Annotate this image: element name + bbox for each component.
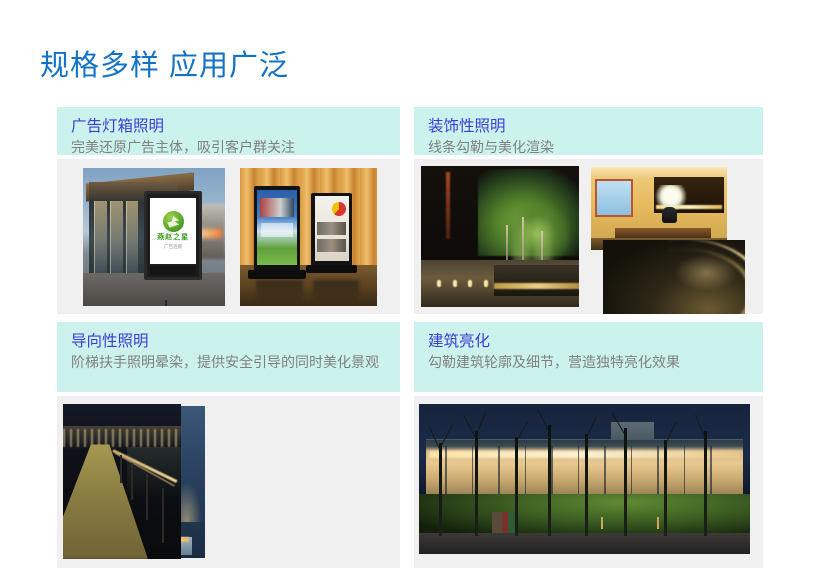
lobby-counter <box>615 228 710 238</box>
card-subtitle-architectural-lighting: 勾勒建筑轮廓及细节，营造独特亮化效果 <box>428 352 763 372</box>
shelter-glass-pane <box>110 201 123 273</box>
page-title: 规格多样 应用广泛 <box>40 42 289 84</box>
night-garden-uplighting-photo <box>421 166 579 307</box>
card-header-advertising-lightbox: 广告灯箱照明 完美还原广告主体，吸引客户群关注 <box>57 107 400 155</box>
trash-bin <box>492 512 515 533</box>
card-title-decorative-lighting: 装饰性照明 <box>428 116 763 137</box>
kiosk-screen-right <box>315 196 350 260</box>
card-title-architectural-lighting: 建筑亮化 <box>428 331 763 352</box>
silhouette-tree <box>475 431 478 536</box>
signage-kiosk-left <box>254 186 301 272</box>
bus-stop-lightbox-photo: 燕赵之星 广告连锁 <box>83 168 225 306</box>
silhouette-tree <box>515 437 518 536</box>
path-bollard-light <box>453 280 457 287</box>
lobby-window <box>595 179 633 217</box>
lightbox-unit: 燕赵之星 广告连锁 <box>144 191 202 279</box>
card-title-advertising-lightbox: 广告灯箱照明 <box>71 116 400 137</box>
kiosk-screen-left <box>257 190 296 265</box>
deck-edge-light <box>494 283 579 289</box>
card-images-decorative-lighting <box>414 159 763 314</box>
screen-photo-row <box>317 239 346 252</box>
card-title-guidance-lighting: 导向性照明 <box>71 331 400 352</box>
foreground-path <box>419 533 750 554</box>
shelter-pole <box>165 300 167 306</box>
railing-post <box>162 488 164 544</box>
garden-bollard-light <box>657 517 659 529</box>
card-images-advertising-lightbox: 燕赵之星 广告连锁 <box>57 159 400 314</box>
screen-pie-graphic <box>332 202 346 216</box>
railing-post <box>146 474 148 521</box>
card-images-guidance-lighting <box>57 396 400 568</box>
lightbox-base-panel <box>150 266 196 275</box>
silhouette-tree <box>585 434 588 536</box>
card-header-architectural-lighting: 建筑亮化 勾勒建筑轮廓及细节，营造独特亮化效果 <box>414 322 763 392</box>
path-bollard-light <box>484 280 488 287</box>
silhouette-tree <box>624 428 627 536</box>
curved-led-strip-photo <box>603 240 745 314</box>
logo-primary-text: 燕赵之星 <box>157 234 189 242</box>
railing-post <box>131 463 133 500</box>
signage-kiosk-right <box>311 193 352 266</box>
distant-skyline <box>63 429 181 448</box>
floor-reflection <box>313 280 360 303</box>
railing-post <box>120 455 122 483</box>
card-guidance-lighting: 导向性照明 阶梯扶手照明晕染，提供安全引导的同时美化景观 <box>57 322 400 568</box>
shelter-glass-pane <box>94 201 107 273</box>
raised-deck <box>494 265 579 296</box>
card-header-guidance-lighting: 导向性照明 阶梯扶手照明晕染，提供安全引导的同时美化景观 <box>57 322 400 392</box>
card-decorative-lighting: 装饰性照明 线条勾勒与美化渲染 <box>414 107 763 314</box>
kiosk-base <box>248 270 306 279</box>
path-bollard-light <box>437 280 441 287</box>
card-images-architectural-lighting <box>414 396 763 568</box>
card-header-decorative-lighting: 装饰性照明 线条勾勒与美化渲染 <box>414 107 763 155</box>
riverside-promenade-photo <box>63 404 181 559</box>
silhouette-tree <box>439 443 442 536</box>
warm-lobby-interior-photo <box>591 167 727 250</box>
glass-building-night-photo <box>419 404 750 554</box>
silhouette-tree <box>704 431 707 536</box>
silhouette-tree <box>548 425 551 536</box>
kiosk-base <box>306 265 357 273</box>
shelter-glass-pane <box>126 201 139 273</box>
brand-logo-icon <box>163 211 184 232</box>
black-vase <box>662 207 677 224</box>
silhouette-tree <box>664 440 667 536</box>
lightbox-ad-face: 燕赵之星 广告连锁 <box>150 198 196 264</box>
floor-reflection <box>256 280 303 303</box>
card-architectural-lighting: 建筑亮化 勾勒建筑轮廓及细节，营造独特亮化效果 <box>414 322 763 568</box>
digital-signage-kiosks-photo <box>240 168 377 306</box>
card-subtitle-advertising-lightbox: 完美还原广告主体，吸引客户群关注 <box>71 137 400 155</box>
slide-canvas: 规格多样 应用广泛 广告灯箱照明 完美还原广告主体，吸引客户群关注 <box>0 0 825 568</box>
card-subtitle-guidance-lighting: 阶梯扶手照明晕染，提供安全引导的同时美化景观 <box>71 352 400 372</box>
card-subtitle-decorative-lighting: 线条勾勒与美化渲染 <box>428 137 763 155</box>
garden-bollard-light <box>601 517 603 529</box>
red-lit-pole <box>446 172 450 240</box>
card-advertising-lightbox: 广告灯箱照明 完美还原广告主体，吸引客户群关注 燕赵之星 广告连锁 <box>57 107 400 314</box>
screen-photo-row <box>317 222 346 235</box>
logo-secondary-text: 广告连锁 <box>164 244 182 250</box>
